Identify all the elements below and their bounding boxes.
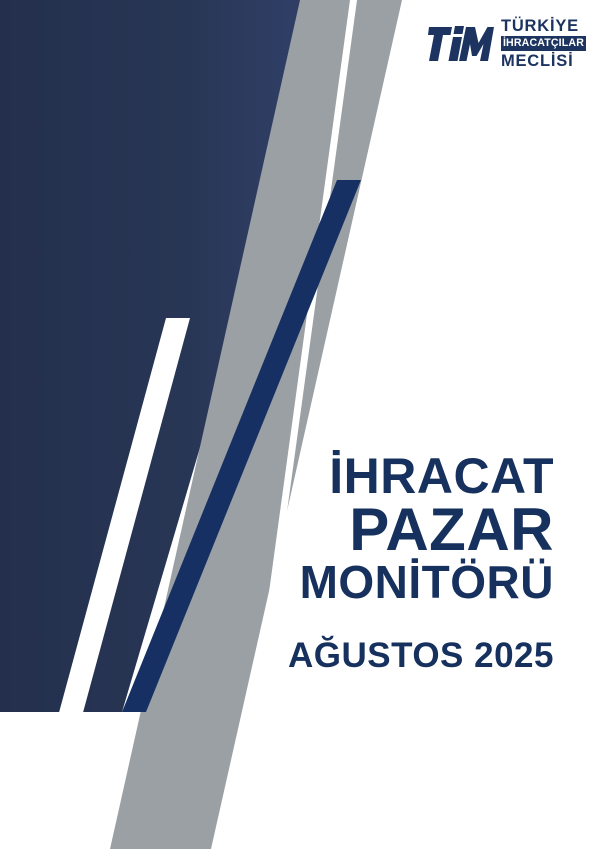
- title-line-3: MONİTÖRÜ: [300, 559, 554, 605]
- logo-line-meclisi: MECLİSİ: [501, 52, 586, 70]
- tim-logomark-icon: [428, 22, 494, 66]
- tim-logo-wordmark: TÜRKİYE İHRACATÇILAR MECLİSİ: [501, 18, 586, 70]
- cover-title: İHRACAT PAZAR MONİTÖRÜ: [300, 452, 554, 605]
- logo-line-turkiye: TÜRKİYE: [501, 18, 586, 36]
- title-line-1: İHRACAT: [300, 452, 554, 501]
- logo-line-ihracatcilar: İHRACATÇILAR: [501, 36, 586, 51]
- report-cover: TÜRKİYE İHRACATÇILAR MECLİSİ İHRACAT PAZ…: [0, 0, 600, 849]
- cover-date: AĞUSTOS 2025: [288, 636, 554, 676]
- diagonal-background-graphic: [0, 0, 600, 849]
- title-line-2: PAZAR: [300, 501, 554, 559]
- tim-logo: TÜRKİYE İHRACATÇILAR MECLİSİ: [428, 18, 586, 70]
